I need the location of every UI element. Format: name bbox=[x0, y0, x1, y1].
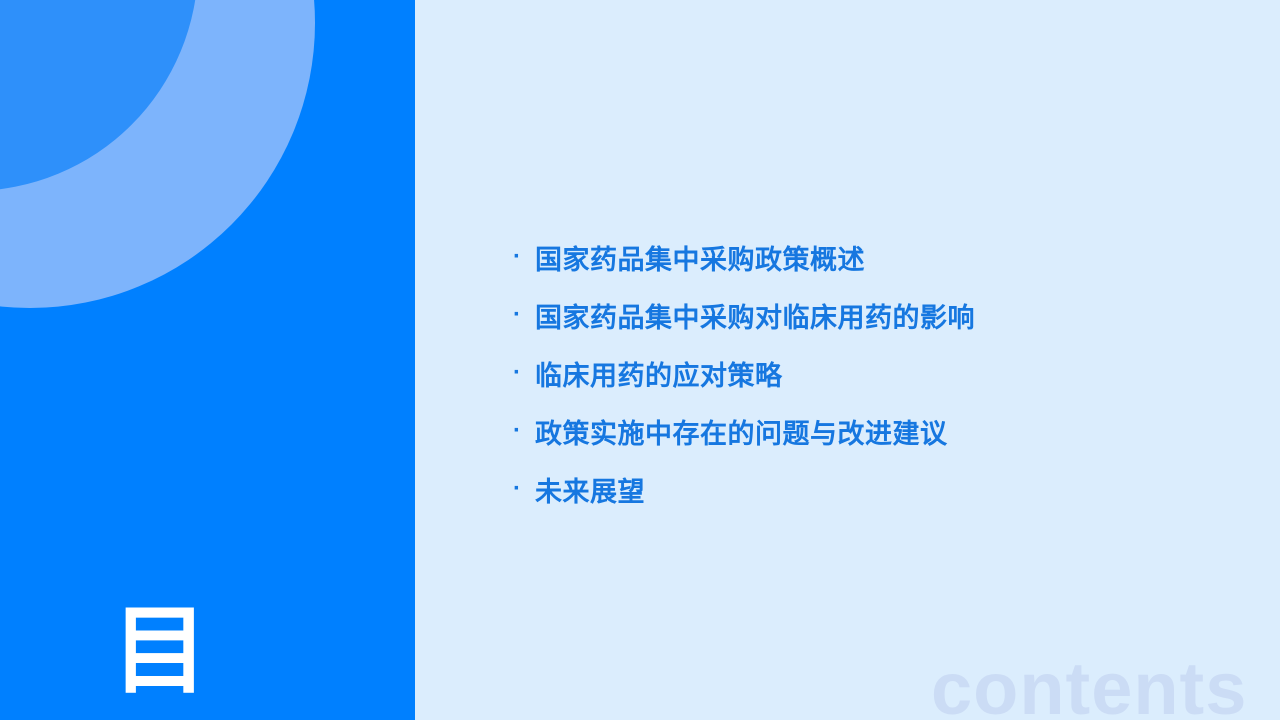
bullet-dot-icon: · bbox=[513, 303, 535, 327]
page-title-vertical: 目 录 bbox=[112, 412, 312, 720]
slide-root: 目 录 · 国家药品集中采购政策概述 · 国家药品集中采购对临床用药的影响 · … bbox=[0, 0, 1280, 720]
list-item-label: 政策实施中存在的问题与改进建议 bbox=[535, 412, 948, 451]
list-item-label: 国家药品集中采购政策概述 bbox=[535, 238, 865, 277]
table-of-contents-list: · 国家药品集中采购政策概述 · 国家药品集中采购对临床用药的影响 · 临床用药… bbox=[513, 228, 975, 518]
bullet-dot-icon: · bbox=[513, 419, 535, 443]
list-item-label: 临床用药的应对策略 bbox=[535, 354, 783, 393]
list-item[interactable]: · 国家药品集中采购对临床用药的影响 bbox=[513, 286, 975, 344]
bullet-dot-icon: · bbox=[513, 361, 535, 385]
bullet-dot-icon: · bbox=[513, 477, 535, 501]
right-panel: · 国家药品集中采购政策概述 · 国家药品集中采购对临床用药的影响 · 临床用药… bbox=[415, 0, 1280, 720]
left-panel: 目 录 bbox=[0, 0, 415, 720]
page-title-char-1: 目 bbox=[112, 604, 312, 720]
list-item[interactable]: · 未来展望 bbox=[513, 460, 975, 518]
list-item-label: 未来展望 bbox=[535, 470, 645, 509]
list-item[interactable]: · 临床用药的应对策略 bbox=[513, 344, 975, 402]
contents-watermark: contents bbox=[931, 652, 1247, 720]
bullet-dot-icon: · bbox=[513, 245, 535, 269]
list-item[interactable]: · 政策实施中存在的问题与改进建议 bbox=[513, 402, 975, 460]
list-item-label: 国家药品集中采购对临床用药的影响 bbox=[535, 296, 975, 335]
list-item[interactable]: · 国家药品集中采购政策概述 bbox=[513, 228, 975, 286]
